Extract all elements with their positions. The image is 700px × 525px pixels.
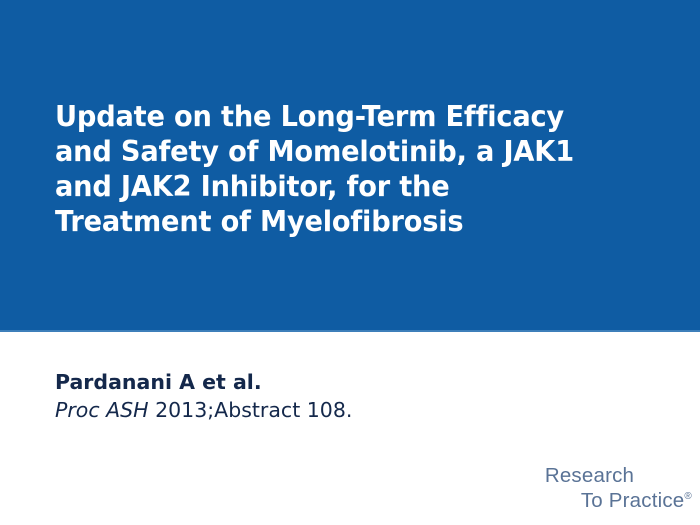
citation: Pardanani A et al. Proc ASH 2013;Abstrac… xyxy=(55,369,555,424)
citation-journal: Proc ASH xyxy=(55,398,149,422)
title-line-4: Treatment of Myelofibrosis xyxy=(55,204,642,239)
title-banner: Update on the Long-Term Efficacy and Saf… xyxy=(0,0,700,332)
presentation-slide: Update on the Long-Term Efficacy and Saf… xyxy=(0,0,700,525)
logo-line-to-practice: To Practice® xyxy=(545,488,692,513)
title-line-3: and JAK2 Inhibitor, for the xyxy=(55,169,642,204)
title-line-2: and Safety of Momelotinib, a JAK1 xyxy=(55,134,642,169)
title-line-1: Update on the Long-Term Efficacy xyxy=(55,99,642,134)
slide-title: Update on the Long-Term Efficacy and Saf… xyxy=(55,99,670,239)
research-to-practice-logo: Research To Practice® xyxy=(545,463,692,513)
registered-trademark-icon: ® xyxy=(684,491,692,502)
citation-authors: Pardanani A et al. xyxy=(55,369,555,396)
logo-line-research: Research xyxy=(545,463,692,488)
logo-text-to-practice: To Practice xyxy=(581,489,685,512)
citation-details: 2013;Abstract 108. xyxy=(149,398,353,422)
citation-source: Proc ASH 2013;Abstract 108. xyxy=(55,396,555,424)
